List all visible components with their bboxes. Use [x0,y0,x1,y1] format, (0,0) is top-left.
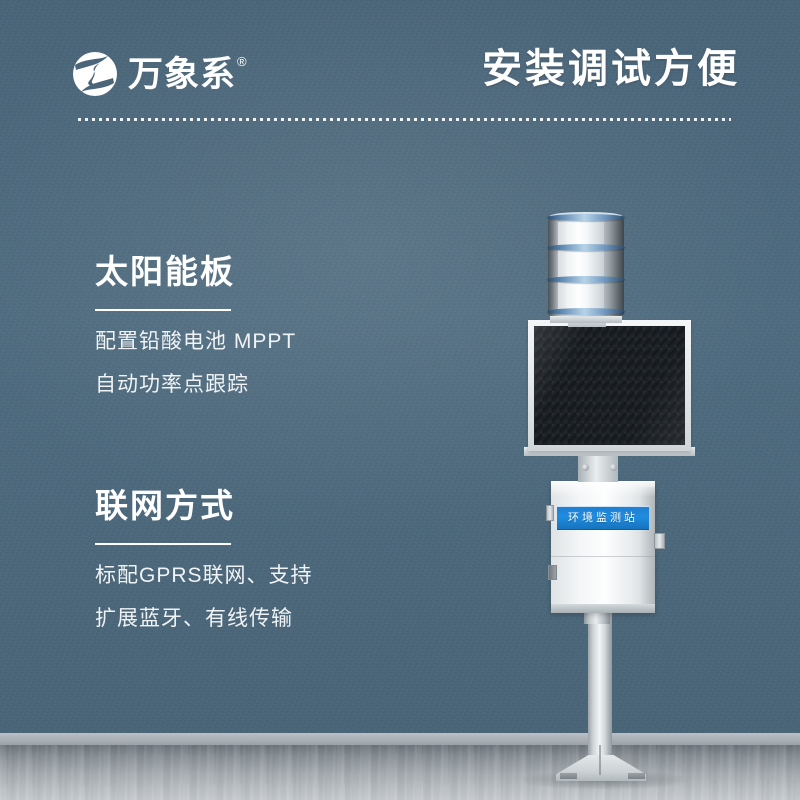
solar-cell [602,424,609,434]
solar-cell [552,391,559,401]
solar-cell [677,338,684,348]
solar-cell [643,327,650,337]
base-foot-right [628,773,645,779]
solar-cell [627,391,634,401]
solar-cell [668,370,675,380]
rain-gauge-ring [547,244,625,251]
solar-cell [677,381,684,391]
solar-cell [568,370,575,380]
solar-cell [535,413,542,423]
solar-cell [610,424,617,434]
solar-cell [660,359,667,369]
solar-cell [577,413,584,423]
solar-cell [585,359,592,369]
solar-cell [543,359,550,369]
solar-cell [652,348,659,358]
solar-cell [568,424,575,434]
solar-cell [635,434,642,444]
solar-cell [568,391,575,401]
registered-trademark-icon: ® [237,54,248,69]
solar-cell [577,348,584,358]
solar-cell [560,338,567,348]
enclosure-seam [551,556,655,557]
solar-cell [668,413,675,423]
rain-gauge-top-rim [547,214,625,221]
solar-cell [577,359,584,369]
solar-cell [660,338,667,348]
feature-title: 太阳能板 [95,253,296,291]
solar-cell [543,424,550,434]
solar-cell [643,434,650,444]
solar-cell [552,327,559,337]
solar-cell [677,402,684,412]
solar-cell [543,391,550,401]
solar-cell [585,338,592,348]
solar-cell [593,381,600,391]
solar-cell [643,424,650,434]
solar-cell [593,359,600,369]
solar-cell [610,327,617,337]
solar-cell [577,424,584,434]
solar-cell [660,424,667,434]
solar-cell [593,402,600,412]
solar-cell [543,348,550,358]
solar-cell [660,434,667,444]
solar-cell [652,338,659,348]
solar-cell [677,424,684,434]
solar-cell [577,391,584,401]
solar-cell [660,391,667,401]
solar-cell [560,381,567,391]
solar-cell [668,338,675,348]
solar-cell [677,434,684,444]
solar-cell [543,402,550,412]
solar-cell [568,434,575,444]
solar-cell [602,338,609,348]
solar-cell [668,327,675,337]
solar-cell [568,338,575,348]
solar-cell [618,381,625,391]
solar-cell [593,434,600,444]
solar-cell [677,327,684,337]
solar-cell [577,327,584,337]
solar-cell [618,370,625,380]
solar-cell [602,348,609,358]
feature-underline [95,543,231,545]
solar-cell [610,434,617,444]
solar-cell [652,370,659,380]
solar-cell [568,348,575,358]
solar-cell [635,424,642,434]
solar-cell [610,359,617,369]
solar-cell [585,434,592,444]
solar-cell [668,424,675,434]
solar-cell [635,381,642,391]
solar-cell [585,413,592,423]
solar-cell [660,348,667,358]
rain-gauge-glass-highlight [558,222,604,310]
solar-cell [643,402,650,412]
solar-cell [627,381,634,391]
solar-cell [610,413,617,423]
solar-cell [577,402,584,412]
solar-cell [560,402,567,412]
feature-block-network: 联网方式 标配GPRS联网、支持 扩展蓝牙、有线传输 [95,487,313,629]
solar-cell [610,391,617,401]
solar-cell [568,402,575,412]
solar-cell [577,338,584,348]
solar-cell [560,348,567,358]
solar-cell [643,381,650,391]
solar-cell [610,348,617,358]
solar-cell [543,434,550,444]
solar-cell [585,391,592,401]
solar-cell [535,381,542,391]
solar-cell [585,348,592,358]
solar-cell [552,381,559,391]
solar-cell [568,359,575,369]
solar-cell [610,370,617,380]
solar-cell [677,348,684,358]
solar-cell [585,370,592,380]
solar-cell [652,381,659,391]
solar-cell [627,424,634,434]
solar-cell [635,327,642,337]
base-foot-left [560,773,577,779]
solar-cell [610,402,617,412]
solar-cell [585,424,592,434]
feature-line: 标配GPRS联网、支持 [95,565,313,586]
solar-cell [585,381,592,391]
solar-cell [627,370,634,380]
product-poster: 万象系® 安装调试方便 太阳能板 配置铅酸电池 MPPT 自动功率点跟踪 联网方… [0,0,800,800]
solar-cell [535,348,542,358]
rain-gauge-ring [547,276,625,283]
solar-cell [643,391,650,401]
enclosure-latch-left-top [546,505,554,521]
solar-cell [568,413,575,423]
solar-cell [618,348,625,358]
solar-cell [552,402,559,412]
solar-cell [535,359,542,369]
solar-cell [660,413,667,423]
wall-baseboard [0,733,800,745]
solar-cell [652,413,659,423]
solar-cell [618,327,625,337]
solar-panel [528,320,691,451]
solar-cell [618,338,625,348]
feature-title: 联网方式 [95,487,313,525]
solar-cell [652,424,659,434]
solar-cell [668,348,675,358]
solar-cell [652,359,659,369]
solar-cell [627,327,634,337]
solar-cell [668,434,675,444]
solar-cell [602,402,609,412]
feature-line: 自动功率点跟踪 [95,374,296,395]
solar-cell [660,402,667,412]
solar-cell [560,424,567,434]
solar-cell [560,413,567,423]
solar-cell [627,359,634,369]
solar-cell [618,402,625,412]
solar-cell [535,370,542,380]
solar-cell [585,402,592,412]
solar-cell [543,413,550,423]
solar-cell [602,434,609,444]
solar-cell [552,413,559,423]
brand-logo: 万象系® [70,48,247,100]
solar-cell [652,391,659,401]
globe-swoosh-logo-icon [70,49,120,99]
bracket-bolt-left [582,464,589,471]
solar-cell [535,338,542,348]
solar-cell [602,327,609,337]
solar-cell [635,338,642,348]
solar-cell [627,402,634,412]
solar-cell [635,370,642,380]
solar-cell [552,434,559,444]
solar-cell [652,402,659,412]
solar-cell [618,391,625,401]
solar-cell [552,348,559,358]
solar-cell [560,370,567,380]
solar-cell [635,348,642,358]
solar-cell [535,391,542,401]
solar-cell [627,434,634,444]
solar-cell [560,391,567,401]
solar-cell [652,327,659,337]
enclosure-name-plate: 环境监测站 [557,506,649,530]
solar-cell [643,370,650,380]
solar-cell [660,327,667,337]
header-divider [78,118,731,121]
solar-cell [593,370,600,380]
feature-underline [95,309,231,311]
solar-cell [585,327,592,337]
solar-cell [668,402,675,412]
solar-cell [568,327,575,337]
solar-cell [618,434,625,444]
solar-cell [668,391,675,401]
enclosure-cable-gland [548,565,557,580]
solar-cell [535,424,542,434]
solar-cell [602,370,609,380]
solar-cell [677,359,684,369]
brand-name-text: 万象系 [128,55,236,94]
solar-cell [643,348,650,358]
solar-cell [668,359,675,369]
solar-cell [677,413,684,423]
solar-cell [568,381,575,391]
solar-panel-cell-grid [534,326,685,445]
solar-cell [660,370,667,380]
brand-name: 万象系® [128,57,247,92]
solar-cell [618,413,625,423]
enclosure-highlight [551,481,655,497]
solar-cell [593,327,600,337]
base-seam [599,745,601,775]
solar-cell [677,391,684,401]
solar-cell [652,434,659,444]
solar-cell [627,413,634,423]
solar-cell [552,338,559,348]
solar-cell [643,338,650,348]
solar-cell [560,359,567,369]
solar-cell [593,338,600,348]
solar-cell [635,359,642,369]
feature-line: 扩展蓝牙、有线传输 [95,608,313,629]
solar-cell [577,434,584,444]
solar-cell [543,381,550,391]
rain-gauge-base [550,316,622,323]
solar-cell [543,370,550,380]
solar-cell [660,381,667,391]
solar-cell [560,434,567,444]
solar-cell [543,327,550,337]
solar-cell [593,413,600,423]
solar-cell [577,381,584,391]
solar-cell [543,338,550,348]
solar-cell [593,391,600,401]
solar-cell [610,338,617,348]
solar-cell [602,413,609,423]
mounting-pole-lower [588,612,612,760]
enclosure-name-plate-text: 环境监测站 [568,513,638,524]
solar-cell [618,359,625,369]
solar-cell [577,370,584,380]
solar-cell [602,359,609,369]
solar-cell [627,348,634,358]
solar-cell [593,348,600,358]
solar-cell [677,370,684,380]
solar-cell [552,424,559,434]
solar-cell [618,424,625,434]
feature-line: 配置铅酸电池 MPPT [95,331,296,352]
solar-cell [643,359,650,369]
rain-gauge-ring [547,308,625,315]
solar-cell [560,327,567,337]
solar-cell [602,381,609,391]
feature-block-solar-panel: 太阳能板 配置铅酸电池 MPPT 自动功率点跟踪 [95,253,296,395]
solar-cell [552,370,559,380]
solar-cell [635,413,642,423]
bracket-bolt-right [610,464,617,471]
solar-cell [535,402,542,412]
rain-gauge-cylinder [548,212,624,322]
solar-cell [610,381,617,391]
solar-cell [627,338,634,348]
solar-cell [593,424,600,434]
enclosure-bottom-edge [551,604,655,613]
solar-cell [635,402,642,412]
solar-cell [535,327,542,337]
solar-cell [552,359,559,369]
floor-sheen [0,745,800,800]
solar-cell [602,391,609,401]
solar-cell [668,381,675,391]
enclosure-latch-right [654,533,665,549]
page-title: 安装调试方便 [482,47,740,91]
solar-cell [535,434,542,444]
solar-cell [635,391,642,401]
solar-cell [643,413,650,423]
